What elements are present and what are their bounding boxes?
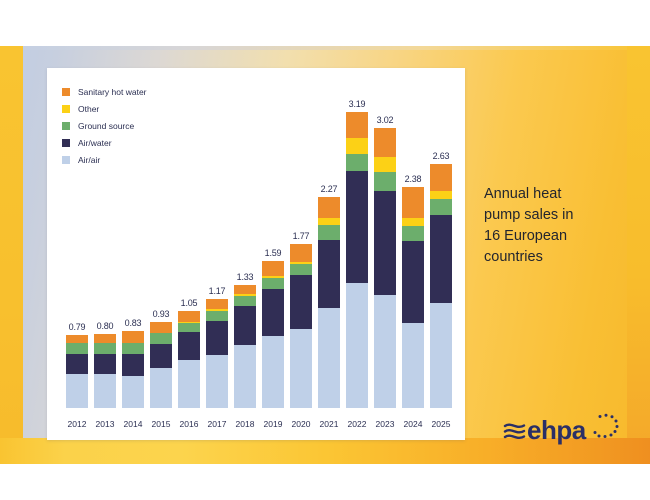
- bar-segment: [122, 354, 144, 375]
- bar-column: 3.02: [371, 98, 399, 408]
- bar-segment: [262, 289, 284, 335]
- slide-title: Annual heatpump sales in16 Europeancount…: [484, 184, 634, 268]
- bar-segment: [206, 321, 228, 355]
- bar-segment: [66, 354, 88, 373]
- x-axis-tick-label: 2025: [427, 410, 455, 440]
- slide-title-line: Annual heat: [484, 184, 634, 205]
- stacked-bar: [290, 244, 312, 408]
- brand-wordmark: ehpa: [527, 415, 587, 445]
- bar-segment: [290, 275, 312, 329]
- bar-value-label: 2.27: [321, 184, 338, 194]
- bar-segment: [290, 244, 312, 263]
- x-axis-tick-label: 2024: [399, 410, 427, 440]
- bar-column: 0.79: [63, 98, 91, 408]
- bar-column: 0.80: [91, 98, 119, 408]
- stacked-bar: [234, 285, 256, 408]
- bar-segment: [262, 261, 284, 277]
- bar-segment: [206, 311, 228, 321]
- bar-segment: [206, 299, 228, 308]
- bar-column: 1.17: [203, 98, 231, 408]
- x-axis-tick-label: 2015: [147, 410, 175, 440]
- bar-segment: [402, 187, 424, 218]
- bar-segment: [430, 199, 452, 215]
- stacked-bar: [122, 331, 144, 408]
- bar-segment: [346, 171, 368, 282]
- bar-column: 2.63: [427, 98, 455, 408]
- slide-title-line: 16 European: [484, 226, 634, 247]
- bar-segment: [94, 343, 116, 354]
- slide-title-line: pump sales in: [484, 205, 634, 226]
- bar-column: 0.93: [147, 98, 175, 408]
- bar-segment: [178, 360, 200, 408]
- bar-segment: [66, 374, 88, 408]
- bar-segment: [94, 354, 116, 373]
- x-axis-tick-label: 2013: [91, 410, 119, 440]
- x-axis-tick-label: 2018: [231, 410, 259, 440]
- stacked-bar: [346, 112, 368, 408]
- bar-segment: [402, 218, 424, 226]
- x-axis-tick-label: 2012: [63, 410, 91, 440]
- bar-value-label: 3.19: [349, 99, 366, 109]
- x-axis-tick-label: 2020: [287, 410, 315, 440]
- bar-segment: [374, 157, 396, 173]
- slide: Sanitary hot waterOtherGround sourceAir/…: [0, 46, 650, 464]
- x-axis-tick-label: 2022: [343, 410, 371, 440]
- bar-segment: [262, 278, 284, 289]
- bar-segment: [178, 311, 200, 322]
- bar-segment: [66, 335, 88, 343]
- bar-segment: [94, 334, 116, 343]
- stacked-bar: [430, 164, 452, 408]
- bar-value-label: 1.05: [181, 298, 198, 308]
- ehpa-logo: ehpa: [503, 412, 623, 446]
- bar-segment: [234, 306, 256, 345]
- x-axis-tick-label: 2014: [119, 410, 147, 440]
- chart-panel: Sanitary hot waterOtherGround sourceAir/…: [47, 68, 465, 440]
- bar-segment: [150, 322, 172, 333]
- x-axis-tick-label: 2021: [315, 410, 343, 440]
- bar-group: 0.790.800.830.931.051.171.331.591.772.27…: [63, 98, 455, 408]
- bar-column: 2.27: [315, 98, 343, 408]
- bar-column: 1.59: [259, 98, 287, 408]
- bar-segment: [178, 323, 200, 332]
- bar-value-label: 2.38: [405, 174, 422, 184]
- top-accent-band: [0, 46, 650, 50]
- bar-segment: [346, 138, 368, 154]
- bar-segment: [402, 226, 424, 241]
- bar-segment: [402, 241, 424, 323]
- bar-value-label: 1.33: [237, 272, 254, 282]
- bar-segment: [234, 296, 256, 306]
- stacked-bar: [374, 128, 396, 408]
- bar-value-label: 1.77: [293, 231, 310, 241]
- left-accent-band: [0, 46, 23, 464]
- eu-stars-icon: [594, 414, 619, 438]
- stacked-bar: [150, 322, 172, 408]
- stacked-bar: [262, 261, 284, 409]
- bar-segment: [290, 264, 312, 275]
- bar-segment: [374, 295, 396, 408]
- bar-segment: [318, 225, 340, 240]
- bar-column: 2.38: [399, 98, 427, 408]
- bar-value-label: 1.59: [265, 248, 282, 258]
- bar-segment: [206, 355, 228, 408]
- bar-segment: [66, 343, 88, 354]
- x-axis-labels: 2012201320142015201620172018201920202021…: [63, 410, 455, 440]
- bar-segment: [234, 345, 256, 408]
- bar-segment: [374, 191, 396, 295]
- bar-segment: [150, 344, 172, 368]
- bar-value-label: 0.80: [97, 321, 114, 331]
- bar-segment: [430, 215, 452, 303]
- bar-segment: [430, 303, 452, 408]
- bar-segment: [430, 164, 452, 191]
- bar-value-label: 0.79: [69, 322, 86, 332]
- bar-segment: [94, 374, 116, 408]
- bar-segment: [178, 332, 200, 360]
- bar-segment: [150, 368, 172, 408]
- bar-value-label: 0.83: [125, 318, 142, 328]
- bar-segment: [122, 343, 144, 354]
- bar-segment: [290, 329, 312, 408]
- bar-segment: [374, 172, 396, 191]
- bar-segment: [346, 283, 368, 408]
- bar-value-label: 0.93: [153, 309, 170, 319]
- stacked-bar: [402, 187, 424, 408]
- bar-segment: [346, 112, 368, 138]
- bar-segment: [346, 154, 368, 172]
- bar-value-label: 1.17: [209, 286, 226, 296]
- bar-segment: [374, 128, 396, 157]
- bar-segment: [122, 331, 144, 343]
- bar-column: 3.19: [343, 98, 371, 408]
- chart-plot-area: 0.790.800.830.931.051.171.331.591.772.27…: [57, 68, 459, 440]
- stacked-bar: [66, 335, 88, 408]
- x-axis-tick-label: 2016: [175, 410, 203, 440]
- bar-segment: [234, 285, 256, 294]
- stacked-bar: [94, 334, 116, 408]
- bar-column: 1.05: [175, 98, 203, 408]
- bar-segment: [318, 218, 340, 225]
- bar-value-label: 2.63: [433, 151, 450, 161]
- x-axis-tick-label: 2023: [371, 410, 399, 440]
- bar-segment: [318, 240, 340, 308]
- bar-column: 1.77: [287, 98, 315, 408]
- stacked-bar: [178, 311, 200, 408]
- bar-column: 0.83: [119, 98, 147, 408]
- bar-segment: [430, 191, 452, 199]
- stacked-bar: [318, 197, 340, 408]
- stacked-bar: [206, 299, 228, 408]
- bar-segment: [318, 308, 340, 408]
- x-axis-tick-label: 2019: [259, 410, 287, 440]
- bar-segment: [122, 376, 144, 408]
- bar-segment: [262, 336, 284, 408]
- bar-column: 1.33: [231, 98, 259, 408]
- bar-segment: [318, 197, 340, 217]
- bar-segment: [402, 323, 424, 408]
- bar-value-label: 3.02: [377, 115, 394, 125]
- x-axis-tick-label: 2017: [203, 410, 231, 440]
- waves-icon: [505, 425, 524, 438]
- slide-title-line: countries: [484, 247, 634, 268]
- bar-segment: [150, 333, 172, 344]
